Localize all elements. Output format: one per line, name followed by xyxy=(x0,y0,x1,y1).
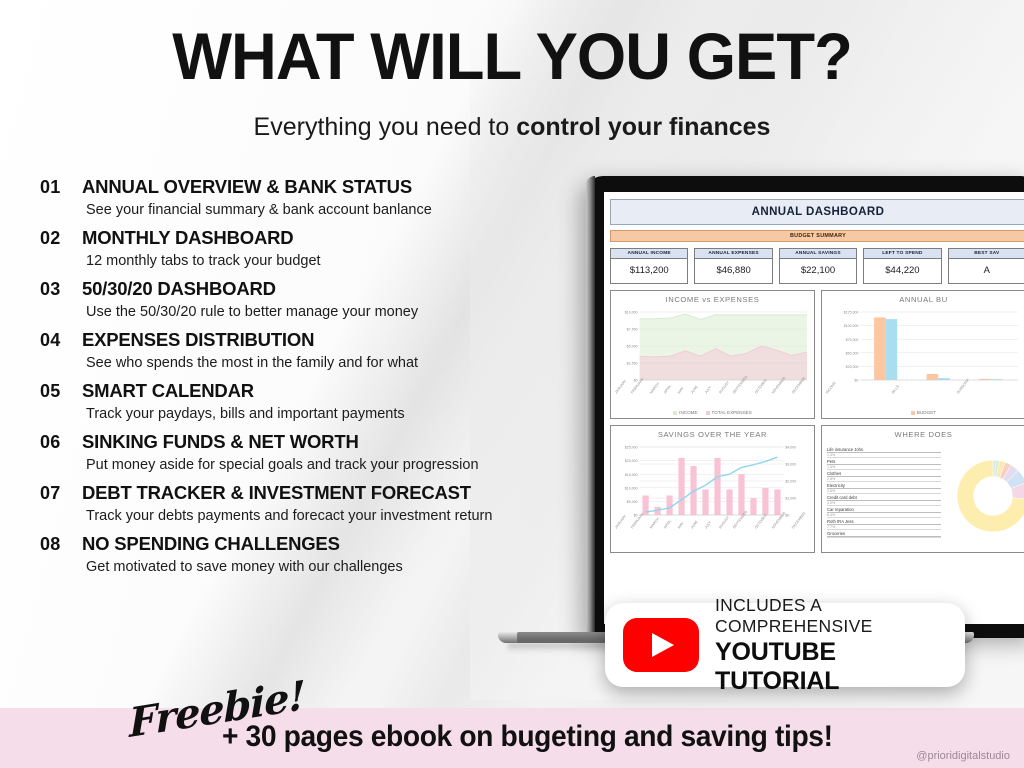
feature-item: 06SINKING FUNDS & NET WORTHPut money asi… xyxy=(40,431,570,473)
expenses-breakdown-card: WHERE DOES Life insurance John1.3%Pets1.… xyxy=(821,425,1024,553)
feature-number: 05 xyxy=(40,381,82,402)
kpi-card: ANNUAL EXPENSES$46,880 xyxy=(694,248,772,284)
kpi-label: BEST SAV xyxy=(949,249,1024,259)
chart-row-2: SAVINGS OVER THE YEAR $0$5,000$10,000$15… xyxy=(610,425,1024,553)
kpi-label: ANNUAL SAVINGS xyxy=(780,249,856,259)
svg-text:$15,000: $15,000 xyxy=(625,473,638,477)
footer-text: + 30 pages ebook on bugeting and saving … xyxy=(222,720,833,754)
chart-legend: INCOMETOTAL EXPENSES xyxy=(614,410,811,415)
kpi-label: LEFT TO SPEND xyxy=(864,249,940,259)
feature-description: See your financial summary & bank accoun… xyxy=(86,202,570,218)
annual-budget-card: ANNUAL BU $0$25,000$50,000$75,000$100,00… xyxy=(821,290,1024,419)
donut-label: Groceries xyxy=(827,531,941,538)
donut-label: Credit card debt4.0% xyxy=(827,495,941,506)
kpi-value: $113,200 xyxy=(611,259,687,283)
feature-item: 02MONTHLY DASHBOARD12 monthly tabs to tr… xyxy=(40,227,570,269)
legend-entry: INCOME xyxy=(673,410,697,415)
x-axis-labels: INCOMEBILLSSUBSCRIP xyxy=(825,392,1022,408)
x-axis-labels: JANUARYFEBRUARYMARCHAPRILMAYJUNEJULYAUGU… xyxy=(614,527,811,543)
donut-plot: Life insurance John1.3%Pets1.5%Clothes2.… xyxy=(825,441,1022,549)
donut-label-pct xyxy=(827,537,941,538)
feature-number: 02 xyxy=(40,228,82,249)
feature-description: 12 monthly tabs to track your budget xyxy=(86,253,570,269)
feature-title: SMART CALENDAR xyxy=(82,380,254,402)
youtube-tutorial-badge[interactable]: INCLUDES A COMPREHENSIVE YOUTUBE TUTORIA… xyxy=(605,603,965,687)
donut-label: Life insurance John1.3% xyxy=(827,447,941,458)
kpi-label: ANNUAL INCOME xyxy=(611,249,687,259)
svg-text:$1,000: $1,000 xyxy=(785,497,796,501)
chart-title: WHERE DOES xyxy=(825,430,1022,439)
youtube-badge-text: INCLUDES A COMPREHENSIVE YOUTUBE TUTORIA… xyxy=(715,595,943,696)
donut-label-pct: 1.3% xyxy=(827,453,941,458)
kpi-value: $22,100 xyxy=(780,259,856,283)
svg-text:$125,000: $125,000 xyxy=(844,311,859,315)
kpi-card: ANNUAL INCOME$113,200 xyxy=(610,248,688,284)
svg-text:$5,000: $5,000 xyxy=(627,345,638,349)
feature-number: 07 xyxy=(40,483,82,504)
dashboard-title: ANNUAL DASHBOARD xyxy=(610,199,1024,225)
feature-title: EXPENSES DISTRIBUTION xyxy=(82,329,314,351)
svg-text:$5,000: $5,000 xyxy=(627,500,638,504)
savings-over-year-card: SAVINGS OVER THE YEAR $0$5,000$10,000$15… xyxy=(610,425,815,553)
laptop-mockup: ANNUAL DASHBOARD BUDGET SUMMARY ANNUAL I… xyxy=(586,176,1024,654)
kpi-card: BEST SAVA xyxy=(948,248,1024,284)
feature-title: ANNUAL OVERVIEW & BANK STATUS xyxy=(82,176,412,198)
feature-number: 01 xyxy=(40,177,82,198)
watermark: @prioridigitalstudio xyxy=(916,750,1010,762)
feature-item: 0350/30/20 DASHBOARDUse the 50/30/20 rul… xyxy=(40,278,570,320)
header: WHAT WILL YOU GET? Everything you need t… xyxy=(0,22,1024,142)
chart-row-1: INCOME vs EXPENSES $0$2,500$5,000$7,500$… xyxy=(610,290,1024,419)
svg-text:$10,000: $10,000 xyxy=(625,487,638,491)
kpi-row: ANNUAL INCOME$113,200ANNUAL EXPENSES$46,… xyxy=(610,248,1024,284)
feature-description: Track your debts payments and forecact y… xyxy=(86,508,570,524)
svg-text:$100,000: $100,000 xyxy=(844,325,859,329)
feature-item: 07DEBT TRACKER & INVESTMENT FORECASTTrac… xyxy=(40,482,570,524)
feature-number: 03 xyxy=(40,279,82,300)
donut-label-list: Life insurance John1.3%Pets1.5%Clothes2.… xyxy=(827,447,941,539)
chart-title: SAVINGS OVER THE YEAR xyxy=(614,430,811,439)
svg-text:$3,000: $3,000 xyxy=(785,463,796,467)
legend-entry: TOTAL EXPENSES xyxy=(706,410,752,415)
donut-label: Roth IRA Jess7.7% xyxy=(827,519,941,530)
footer-bar: Freebie! + 30 pages ebook on bugeting an… xyxy=(0,708,1024,768)
svg-text:$20,000: $20,000 xyxy=(625,460,638,464)
kpi-label: ANNUAL EXPENSES xyxy=(695,249,771,259)
svg-text:$0: $0 xyxy=(855,379,859,383)
laptop-lid: ANNUAL DASHBOARD BUDGET SUMMARY ANNUAL I… xyxy=(586,176,1024,638)
feature-description: Track your paydays, bills and important … xyxy=(86,406,570,422)
kpi-value: $46,880 xyxy=(695,259,771,283)
feature-title: 50/30/20 DASHBOARD xyxy=(82,278,276,300)
feature-number: 06 xyxy=(40,432,82,453)
feature-title: DEBT TRACKER & INVESTMENT FORECAST xyxy=(82,482,471,504)
x-axis-labels: JANUARYFEBRUARYMARCHAPRILMAYJUNEJULYAUGU… xyxy=(614,392,811,408)
svg-text:$10,000: $10,000 xyxy=(625,311,638,315)
donut-label-pct: 4.0% xyxy=(827,501,941,506)
feature-title: SINKING FUNDS & NET WORTH xyxy=(82,431,359,453)
kpi-card: ANNUAL SAVINGS$22,100 xyxy=(779,248,857,284)
kpi-value: A xyxy=(949,259,1024,283)
donut-label-pct: 2.8% xyxy=(827,489,941,494)
legend-entry: BUDGET xyxy=(911,410,936,415)
subtitle-plain: Everything you need to xyxy=(254,113,517,141)
chart-title: ANNUAL BU xyxy=(825,295,1022,304)
feature-title: MONTHLY DASHBOARD xyxy=(82,227,293,249)
donut-label: Car reparation6.4% xyxy=(827,507,941,518)
donut-label: Electricity2.8% xyxy=(827,483,941,494)
laptop-screen: ANNUAL DASHBOARD BUDGET SUMMARY ANNUAL I… xyxy=(604,192,1024,624)
feature-number: 08 xyxy=(40,534,82,555)
donut-label-pct: 1.5% xyxy=(827,465,941,470)
youtube-play-icon xyxy=(623,618,699,672)
spreadsheet-dashboard: ANNUAL DASHBOARD BUDGET SUMMARY ANNUAL I… xyxy=(604,192,1024,560)
svg-text:$25,000: $25,000 xyxy=(625,446,638,450)
feature-title: NO SPENDING CHALLENGES xyxy=(82,533,340,555)
feature-number: 04 xyxy=(40,330,82,351)
donut-label: Clothes2.8% xyxy=(827,471,941,482)
donut-label: Pets1.5% xyxy=(827,459,941,470)
youtube-badge-line1: INCLUDES A COMPREHENSIVE xyxy=(715,595,943,637)
svg-text:$75,000: $75,000 xyxy=(846,338,859,342)
svg-text:$7,500: $7,500 xyxy=(627,328,638,332)
kpi-value: $44,220 xyxy=(864,259,940,283)
kpi-card: LEFT TO SPEND$44,220 xyxy=(863,248,941,284)
chart-title: INCOME vs EXPENSES xyxy=(614,295,811,304)
donut-label-pct: 2.8% xyxy=(827,477,941,482)
feature-description: Get motivated to save money with our cha… xyxy=(86,559,570,575)
svg-text:$2,000: $2,000 xyxy=(785,480,796,484)
feature-description: See who spends the most in the family an… xyxy=(86,355,570,371)
feature-description: Put money aside for special goals and tr… xyxy=(86,457,570,473)
feature-description: Use the 50/30/20 rule to better manage y… xyxy=(86,304,570,320)
feature-item: 08NO SPENDING CHALLENGESGet motivated to… xyxy=(40,533,570,575)
feature-list: 01ANNUAL OVERVIEW & BANK STATUSSee your … xyxy=(40,176,570,584)
svg-text:$4,000: $4,000 xyxy=(785,446,796,450)
chart-legend: BUDGET xyxy=(825,410,1022,415)
feature-item: 01ANNUAL OVERVIEW & BANK STATUSSee your … xyxy=(40,176,570,218)
feature-item: 04EXPENSES DISTRIBUTIONSee who spends th… xyxy=(40,329,570,371)
page-subtitle: Everything you need to control your fina… xyxy=(0,113,1024,142)
svg-text:$2,500: $2,500 xyxy=(627,362,638,366)
donut-label-pct: 7.7% xyxy=(827,525,941,530)
budget-summary-band: BUDGET SUMMARY xyxy=(610,230,1024,242)
donut-label-pct: 6.4% xyxy=(827,513,941,518)
feature-item: 05SMART CALENDARTrack your paydays, bill… xyxy=(40,380,570,422)
income-vs-expenses-card: INCOME vs EXPENSES $0$2,500$5,000$7,500$… xyxy=(610,290,815,419)
subtitle-bold: control your finances xyxy=(516,113,770,141)
page-title: WHAT WILL YOU GET? xyxy=(20,22,1003,91)
youtube-badge-line2: YOUTUBE TUTORIAL xyxy=(715,638,943,696)
